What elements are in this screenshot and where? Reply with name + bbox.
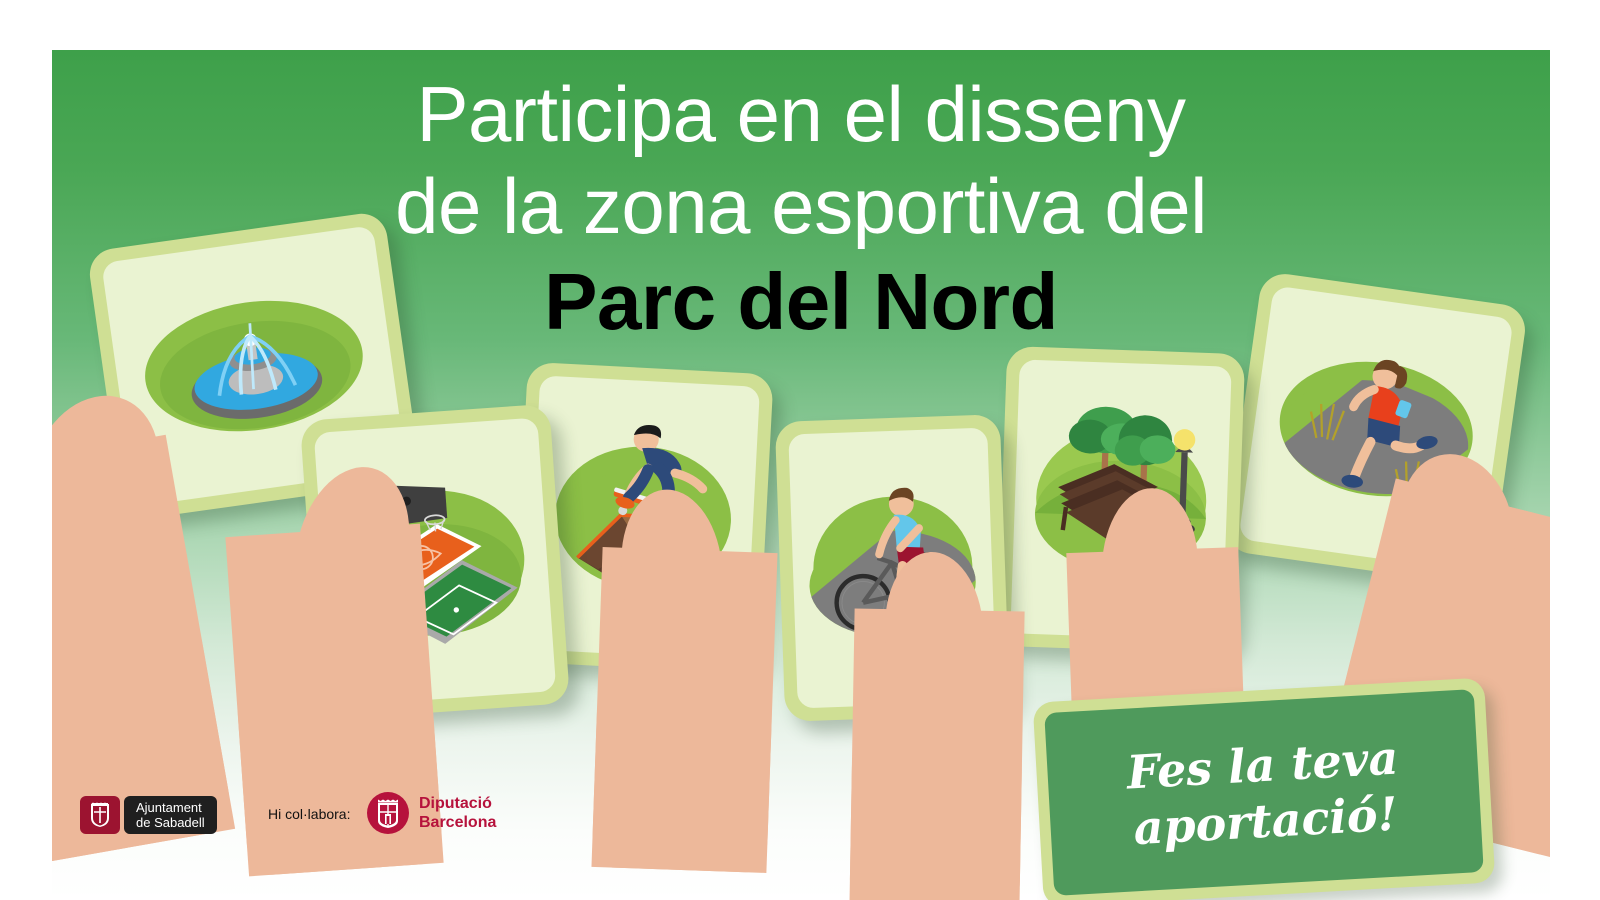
footer-logos: Ajuntament de Sabadell Hi col·labora: Di… [0, 780, 1600, 860]
shield-icon [89, 802, 111, 828]
ajuntament-line-1: Ajuntament [136, 800, 205, 815]
ajuntament-name-box: Ajuntament de Sabadell [124, 796, 217, 834]
headline-line-1: Participa en el disseny [52, 68, 1550, 160]
logo-diputacio-barcelona[interactable]: Diputació Barcelona [367, 792, 496, 834]
diputacio-seal-icon [367, 792, 409, 834]
diputacio-name: Diputació Barcelona [419, 794, 496, 832]
castle-crest-icon [373, 797, 403, 829]
logo-ajuntament-de-sabadell[interactable]: Ajuntament de Sabadell [80, 796, 217, 834]
ajuntament-line-2: de Sabadell [136, 815, 205, 830]
diputacio-line-2: Barcelona [419, 813, 496, 832]
diputacio-line-1: Diputació [419, 794, 496, 813]
collaboration-label: Hi col·labora: [268, 806, 350, 822]
sabadell-crest-icon [80, 796, 120, 834]
promotional-banner: Participa en el disseny de la zona espor… [52, 50, 1550, 900]
